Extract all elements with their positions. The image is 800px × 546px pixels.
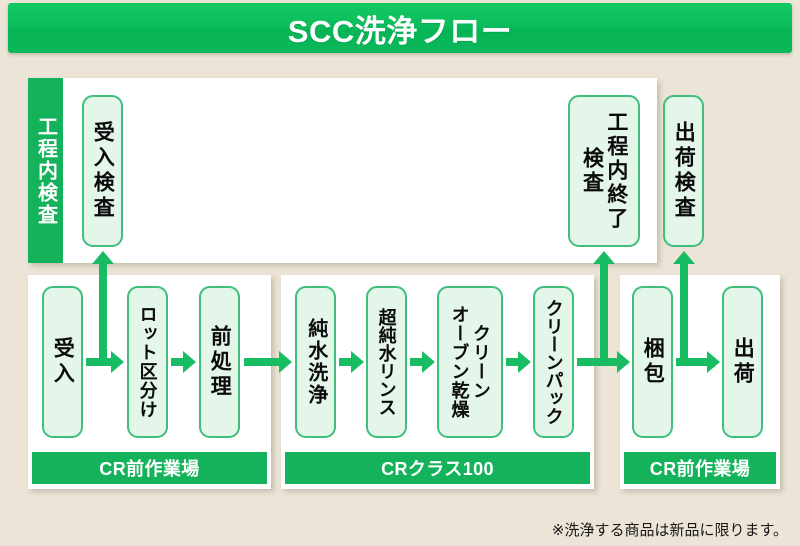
box-pre-treatment[interactable]: 前処理 bbox=[199, 286, 240, 438]
box-ultrapure-water-rinse-label: 超純水リンス bbox=[377, 308, 395, 416]
group-label-cr-class-100: CRクラス100 bbox=[285, 452, 590, 484]
arrow-pre-treatment-to-pure-water-cleaning bbox=[244, 351, 292, 373]
box-process-end-inspection[interactable]: 工程内終了 検査 bbox=[568, 95, 640, 247]
box-receiving[interactable]: 受入 bbox=[42, 286, 83, 438]
box-shipping-label: 出荷 bbox=[732, 337, 753, 387]
title-bar: SCC洗浄フロー bbox=[8, 3, 792, 53]
box-lot-sorting-label: ロット区分け bbox=[138, 305, 156, 419]
page-title: SCC洗浄フロー bbox=[8, 3, 792, 53]
arrow-to-shipping-inspection bbox=[673, 251, 695, 359]
box-receiving-label: 受入 bbox=[52, 337, 73, 387]
arrow-to-incoming-inspection bbox=[92, 251, 114, 359]
arrow-to-process-end-inspection bbox=[593, 251, 615, 359]
box-clean-pack-label: クリーンパック bbox=[544, 299, 562, 425]
arrow-ultrapure-water-rinse-to-clean-oven-drying bbox=[410, 351, 435, 373]
box-shipping-inspection[interactable]: 出荷検査 bbox=[663, 95, 704, 247]
box-packing[interactable]: 梱包 bbox=[632, 286, 673, 438]
box-process-end-inspection-col-right: 工程内終了 bbox=[606, 97, 627, 245]
box-pre-treatment-label: 前処理 bbox=[209, 325, 230, 400]
footnote: ※洗浄する商品は新品に限ります。 bbox=[552, 519, 788, 540]
group-label-pre-cr-work-area-1: CR前作業場 bbox=[32, 452, 267, 484]
box-pure-water-cleaning[interactable]: 純水洗浄 bbox=[295, 286, 336, 438]
box-clean-oven-drying-col-left: オーブン乾燥 bbox=[450, 288, 468, 436]
box-lot-sorting[interactable]: ロット区分け bbox=[127, 286, 168, 438]
box-clean-pack[interactable]: クリーンパック bbox=[533, 286, 574, 438]
inspection-side-label: 工程内検査 bbox=[28, 78, 63, 263]
group-label-pre-cr-work-area-2: CR前作業場 bbox=[624, 452, 776, 484]
arrow-pure-water-cleaning-to-ultrapure-water-rinse bbox=[339, 351, 364, 373]
box-shipping-inspection-label: 出荷検査 bbox=[673, 121, 694, 221]
box-incoming-inspection[interactable]: 受入検査 bbox=[82, 95, 123, 247]
diagram-root: SCC洗浄フロー 工程内検査 受入検査 工程内終了 検査 出荷検査 CR前作業場… bbox=[0, 0, 800, 546]
box-pure-water-cleaning-label: 純水洗浄 bbox=[305, 318, 325, 406]
box-clean-oven-drying-col-right: クリーン bbox=[472, 288, 490, 436]
box-incoming-inspection-label: 受入検査 bbox=[92, 121, 113, 221]
arrow-lot-sorting-to-pre-treatment bbox=[171, 351, 196, 373]
box-shipping[interactable]: 出荷 bbox=[722, 286, 763, 438]
arrow-clean-oven-drying-to-clean-pack bbox=[506, 351, 531, 373]
box-ultrapure-water-rinse[interactable]: 超純水リンス bbox=[366, 286, 407, 438]
box-packing-label: 梱包 bbox=[642, 337, 663, 387]
box-process-end-inspection-col-left: 検査 bbox=[581, 97, 602, 245]
box-clean-oven-drying[interactable]: クリーン オーブン乾燥 bbox=[437, 286, 503, 438]
inspection-side-label-text: 工程内検査 bbox=[36, 116, 56, 226]
